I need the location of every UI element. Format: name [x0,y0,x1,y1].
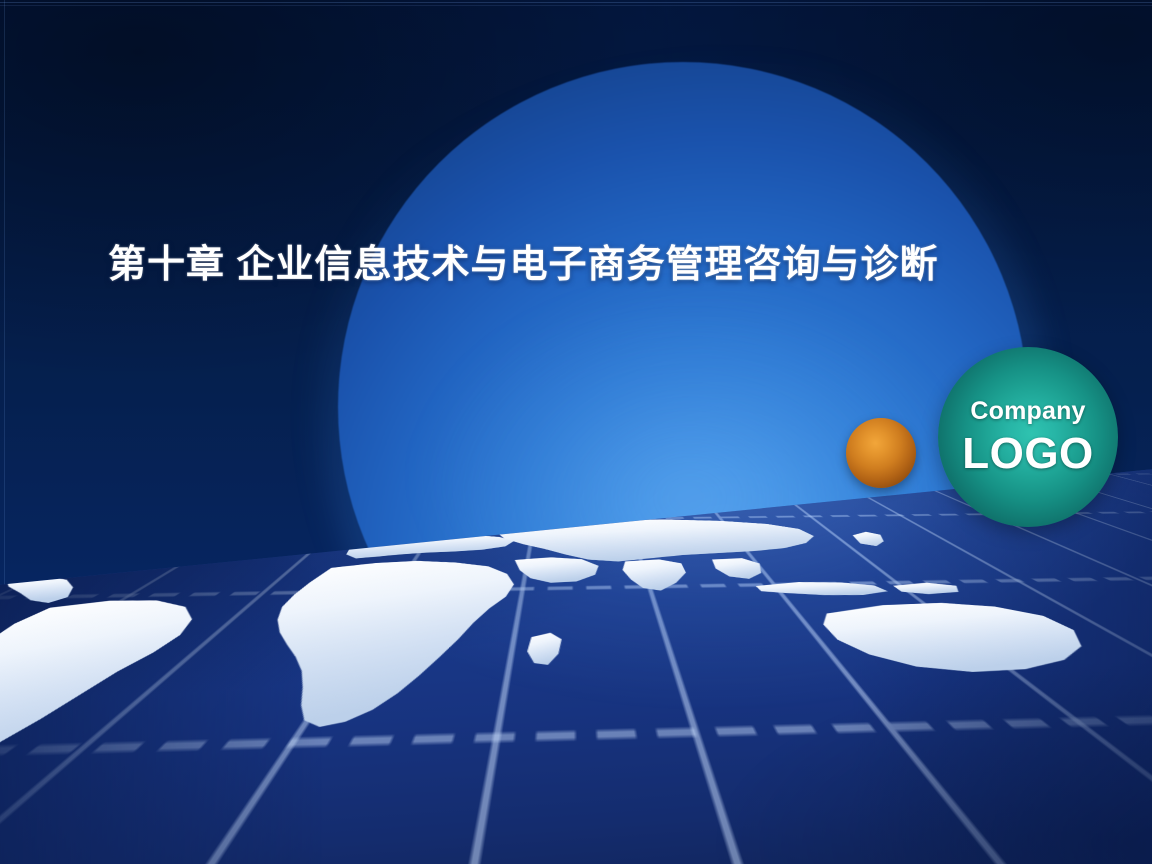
company-logo-text: Company LOGO [938,347,1118,527]
company-logo-word-label: LOGO [962,432,1094,476]
slide-border-top [0,2,1152,3]
orange-accent-sphere [846,418,916,488]
slide-border-top-secondary [0,5,1152,6]
slide-title: 第十章 企业信息技术与电子商务管理咨询与诊断 [108,233,988,288]
presentation-slide: Company LOGO 第十章 企业信息技术与电子商务管理咨询与诊断 [0,0,1152,864]
company-logo-company-label: Company [970,399,1085,424]
company-logo[interactable]: Company LOGO [938,347,1118,527]
